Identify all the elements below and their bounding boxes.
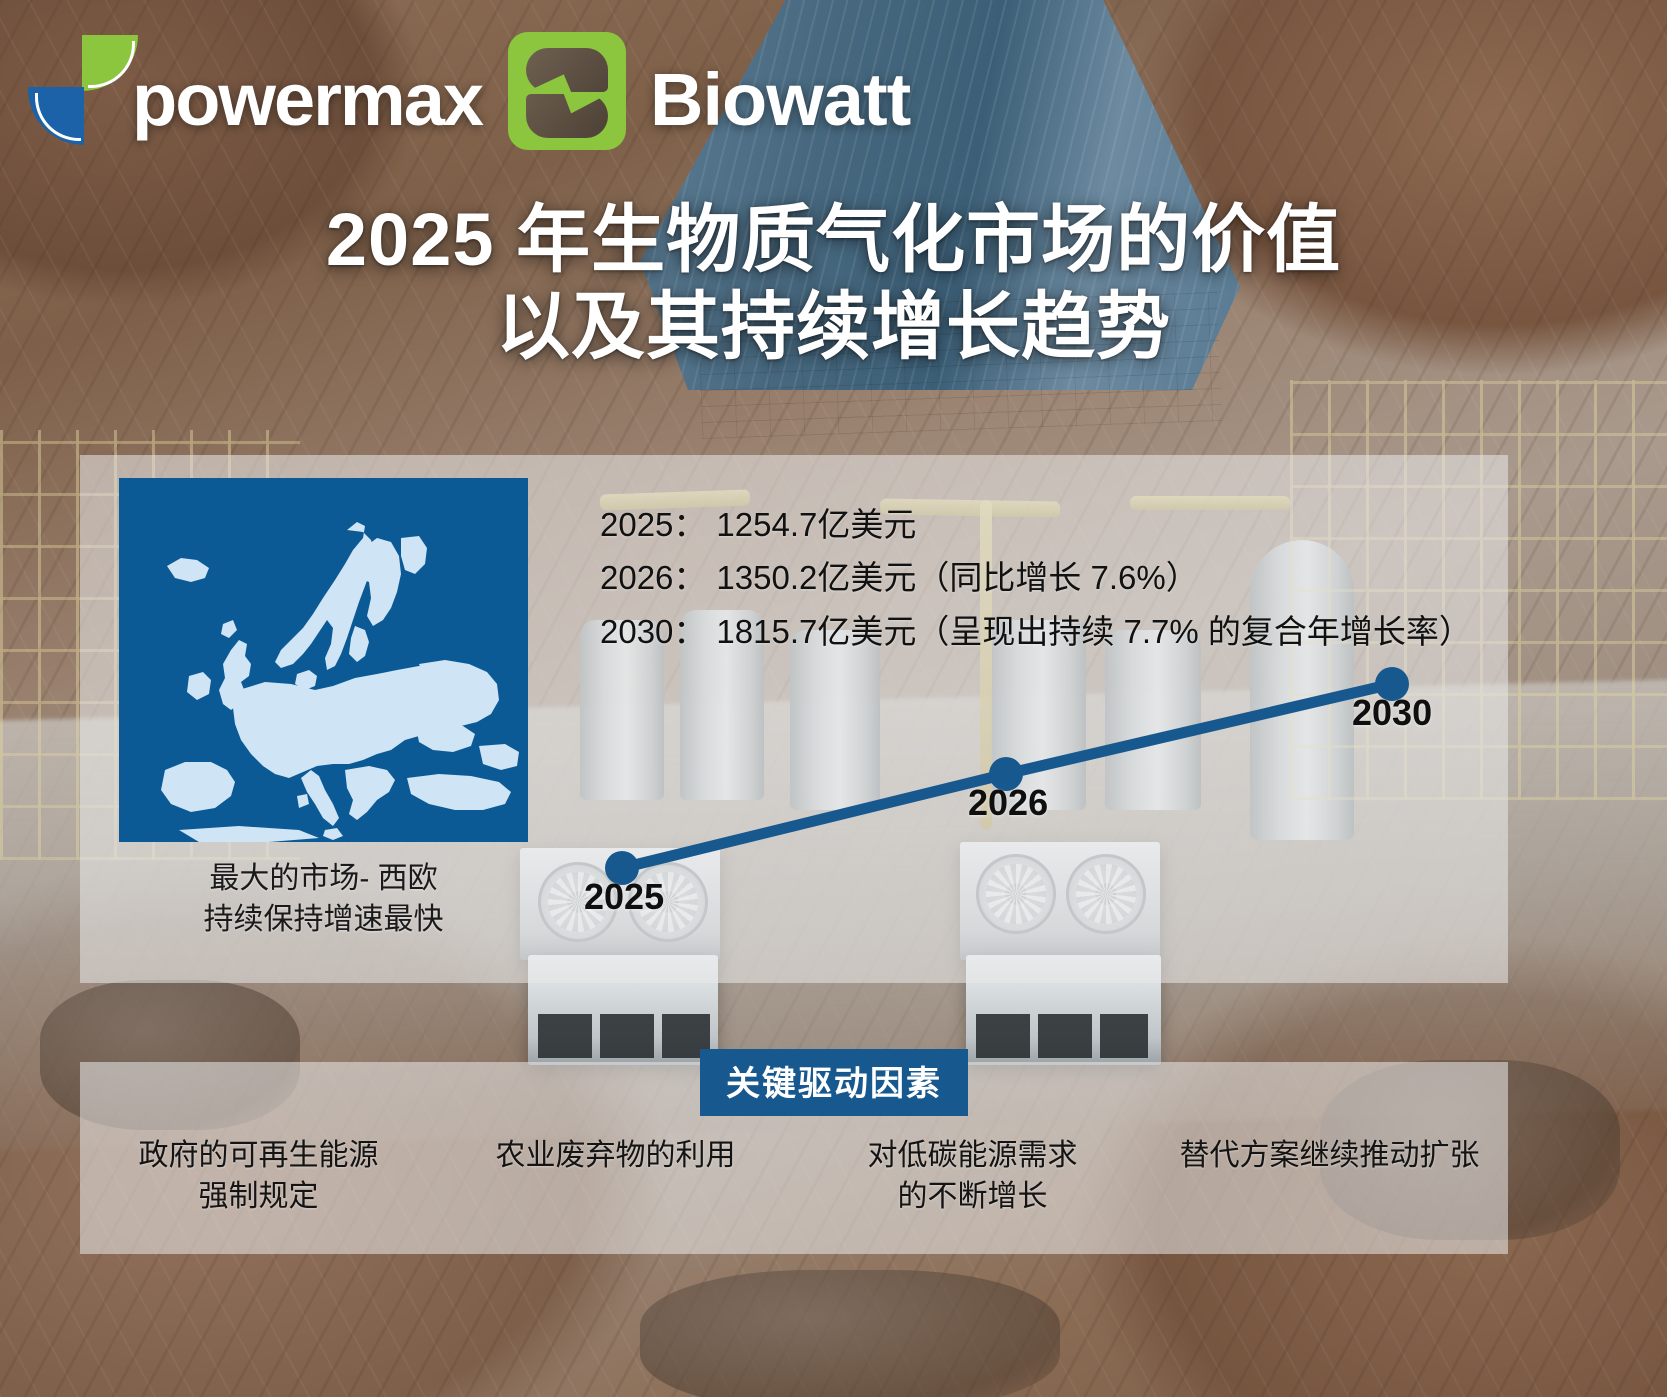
map-caption-line-2: 持续保持增速最快 bbox=[119, 899, 528, 940]
stat-value-2026: 1350.2亿美元（同比增长 7.6%） bbox=[716, 551, 1198, 604]
chart-label-2030: 2030 bbox=[1352, 692, 1432, 734]
map-caption: 最大的市场- 西欧 持续保持增速最快 bbox=[119, 858, 528, 941]
biowatt-wordmark: Biowatt bbox=[650, 63, 910, 137]
key-drivers-row: 政府的可再生能源 强制规定 农业废弃物的利用 对低碳能源需求 的不断增长 替代方… bbox=[80, 1135, 1508, 1218]
stat-row-2025: 2025：1254.7亿美元 bbox=[600, 498, 1600, 551]
chart-label-2025: 2025 bbox=[584, 876, 664, 918]
driver-item-1: 政府的可再生能源 强制规定 bbox=[80, 1135, 437, 1218]
biowatt-leaf-upper-icon bbox=[526, 48, 608, 92]
rubble-bottom bbox=[640, 1270, 1060, 1397]
biowatt-leaf-lower-icon bbox=[526, 94, 608, 138]
map-caption-line-1: 最大的市场- 西欧 bbox=[119, 858, 528, 899]
biowatt-leaf-bolt-icon bbox=[508, 32, 626, 150]
cooling-grille-right-1 bbox=[976, 1014, 1030, 1058]
stat-year-2025: 2025： bbox=[600, 498, 706, 551]
stat-row-2026: 2026：1350.2亿美元（同比增长 7.6%） bbox=[600, 551, 1600, 604]
page-title: 2025 年生物质气化市场的价值 以及其持续增长趋势 bbox=[0, 196, 1667, 371]
cooling-grille-right-2 bbox=[1038, 1014, 1092, 1058]
powermax-green-quadrant-icon bbox=[82, 35, 138, 91]
driver-1-line-1: 政府的可再生能源 bbox=[90, 1135, 427, 1176]
page-title-line-1: 2025 年生物质气化市场的价值 bbox=[0, 196, 1667, 283]
powermax-wordmark: powermax bbox=[132, 63, 482, 137]
driver-3-line-1: 对低碳能源需求 bbox=[804, 1135, 1141, 1176]
driver-2-line-1: 农业废弃物的利用 bbox=[447, 1135, 784, 1176]
europe-map bbox=[119, 478, 528, 842]
infographic-poster: powermax Biowatt 2025 年生物质气化市场的价值 以及其持续增… bbox=[0, 0, 1667, 1397]
cooling-grille-left-2 bbox=[600, 1014, 654, 1058]
stat-value-2025: 1254.7亿美元 bbox=[716, 498, 916, 551]
driver-item-3: 对低碳能源需求 的不断增长 bbox=[794, 1135, 1151, 1218]
market-value-stats: 2025：1254.7亿美元 2026：1350.2亿美元（同比增长 7.6%）… bbox=[600, 498, 1600, 658]
driver-item-2: 农业废弃物的利用 bbox=[437, 1135, 794, 1176]
stat-year-2026: 2026： bbox=[600, 551, 706, 604]
powermax-blue-quadrant-icon bbox=[28, 87, 84, 145]
brand-logo-row: powermax Biowatt bbox=[28, 28, 910, 150]
cooling-grille-right-3 bbox=[1100, 1014, 1148, 1058]
driver-4-line-1: 替代方案继续推动扩张 bbox=[1161, 1135, 1498, 1176]
key-drivers-banner: 关键驱动因素 bbox=[700, 1049, 968, 1116]
driver-item-4: 替代方案继续推动扩张 bbox=[1151, 1135, 1508, 1176]
powermax-leaf-icon bbox=[28, 29, 136, 149]
growth-line-chart: 2025 2026 2030 bbox=[560, 650, 1460, 950]
page-title-line-2: 以及其持续增长趋势 bbox=[0, 283, 1667, 370]
driver-1-line-2: 强制规定 bbox=[90, 1176, 427, 1217]
driver-3-line-2: 的不断增长 bbox=[804, 1176, 1141, 1217]
chart-label-2026: 2026 bbox=[968, 782, 1048, 824]
cooling-grille-left-1 bbox=[538, 1014, 592, 1058]
